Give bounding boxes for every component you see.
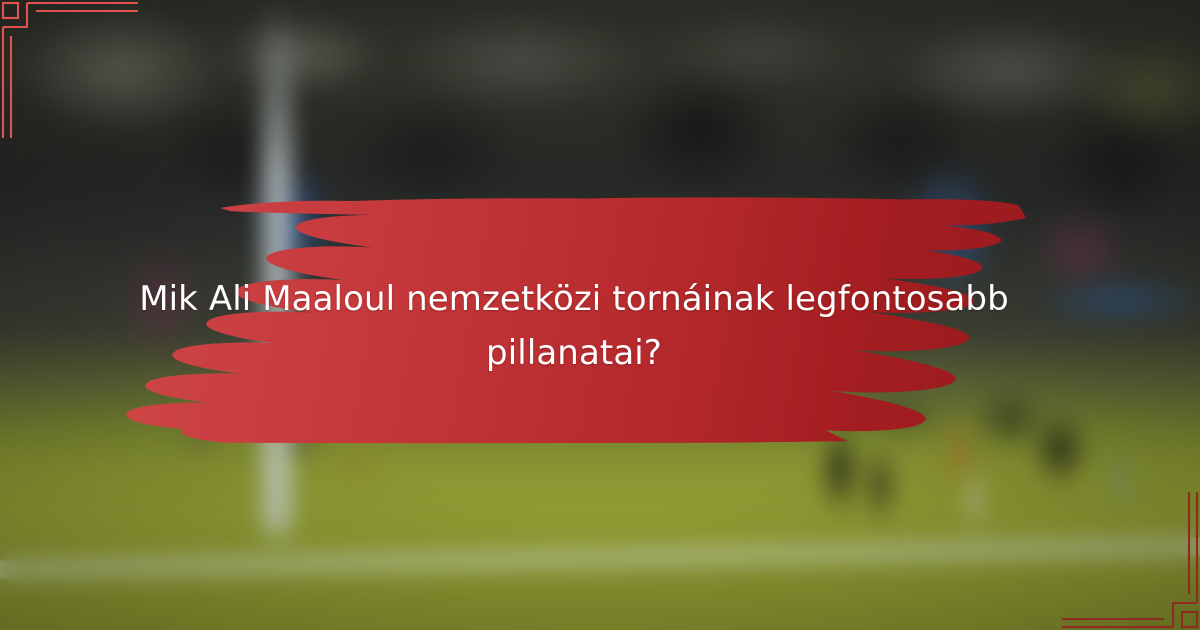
share-card: Mik Ali Maaloul nemzetközi tornáinak leg… [0,0,1200,630]
headline-banner: Mik Ali Maaloul nemzetközi tornáinak leg… [118,186,1030,454]
headline-text: Mik Ali Maaloul nemzetközi tornáinak leg… [118,272,1030,380]
